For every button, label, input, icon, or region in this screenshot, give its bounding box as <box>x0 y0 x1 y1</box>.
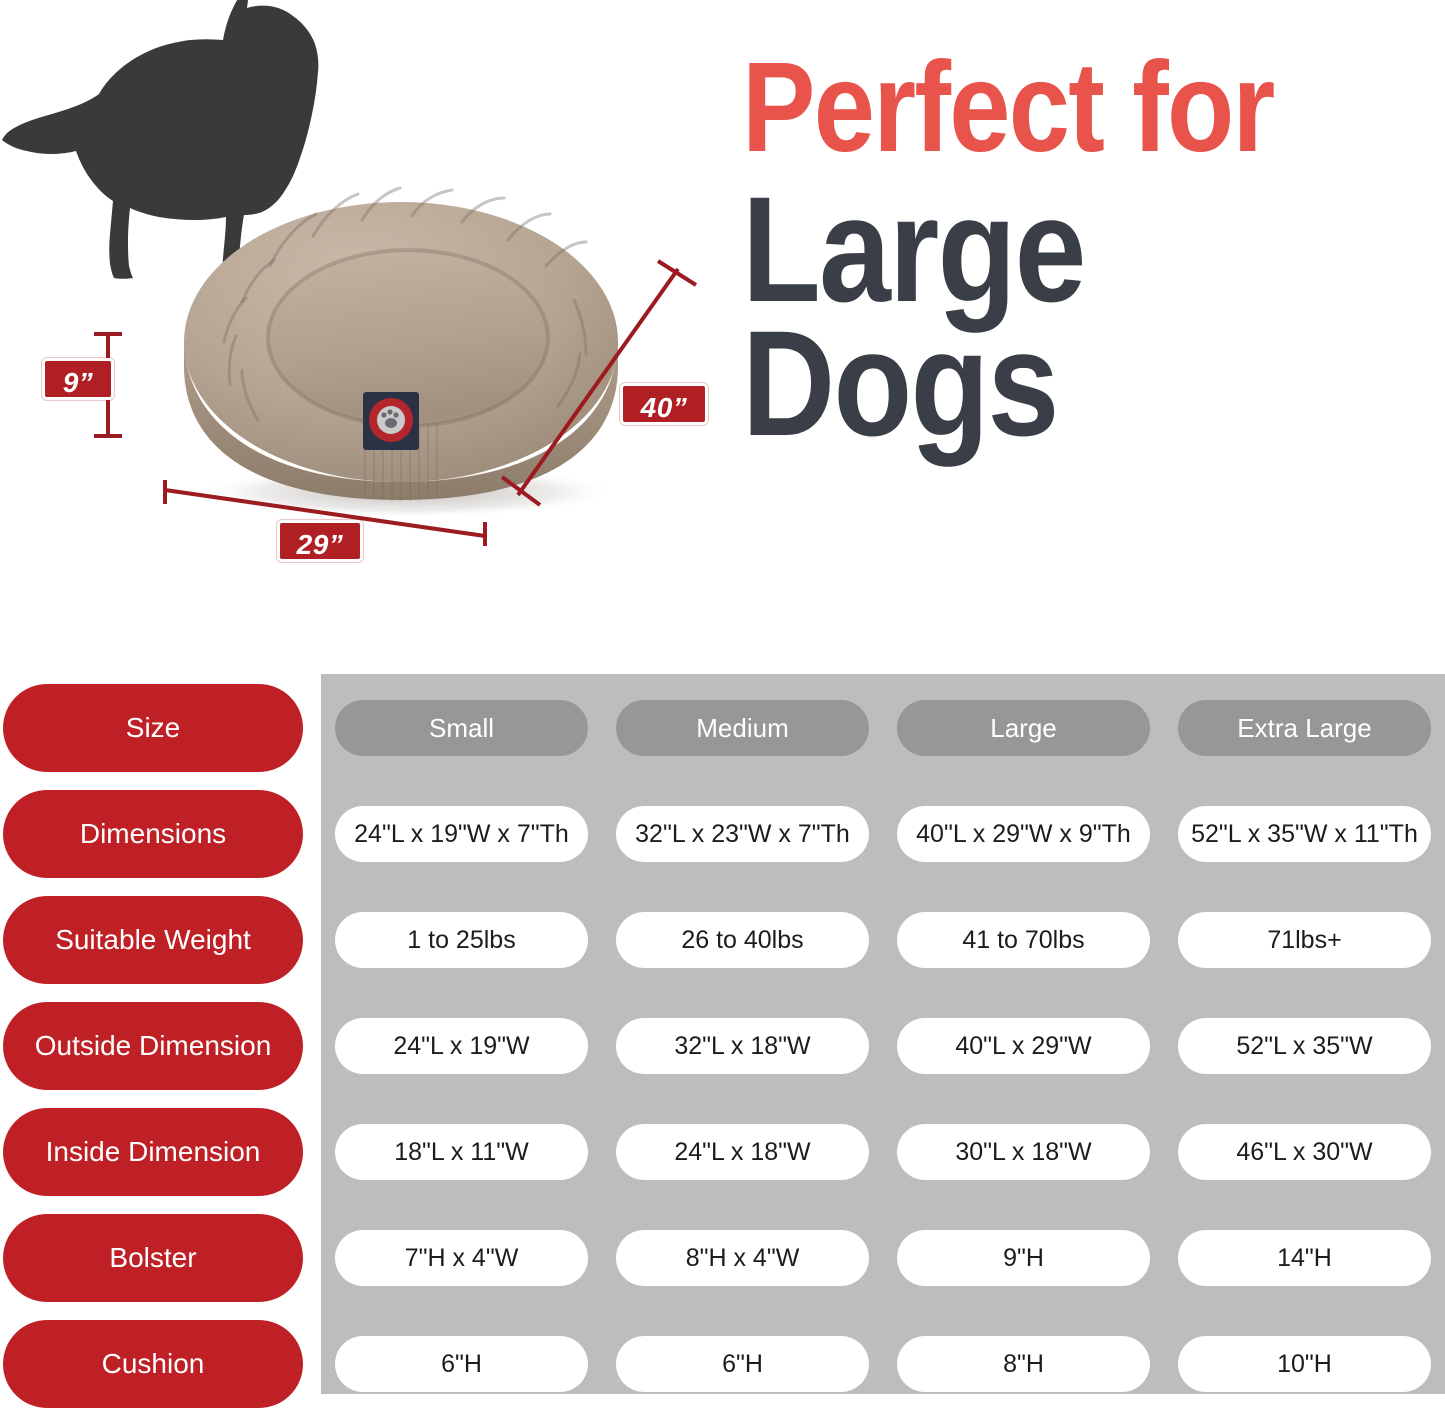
cell-value: 6"H <box>616 1336 869 1392</box>
table-cell: 1 to 25lbs <box>321 912 602 968</box>
row-cells-0: SmallMediumLargeExtra Large <box>321 700 1445 756</box>
row-label-outside-dimension: Outside Dimension <box>3 1002 303 1090</box>
column-header-large: Large <box>897 700 1150 756</box>
table-cell: Small <box>321 700 602 756</box>
headline-block: Perfect for Large Dogs <box>742 52 1442 449</box>
cell-value: 46"L x 30"W <box>1178 1124 1431 1180</box>
row-cells-5: 7"H x 4"W8"H x 4"W9"H14"H <box>321 1230 1445 1286</box>
callout-width-badge: 29” <box>277 520 363 562</box>
cell-value: 26 to 40lbs <box>616 912 869 968</box>
table-cell: 8"H <box>883 1336 1164 1392</box>
row-label-dimensions: Dimensions <box>3 790 303 878</box>
cell-value: 7"H x 4"W <box>335 1230 588 1286</box>
cell-value: 10"H <box>1178 1336 1431 1392</box>
cell-value: 18"L x 11"W <box>335 1124 588 1180</box>
table-cell: Large <box>883 700 1164 756</box>
table-cell: 32"L x 18"W <box>602 1018 883 1074</box>
brand-label-tag <box>363 392 419 450</box>
row-cells-2: 1 to 25lbs26 to 40lbs41 to 70lbs71lbs+ <box>321 912 1445 968</box>
row-label-cushion: Cushion <box>3 1320 303 1408</box>
table-cell: 24"L x 19"W x 7"Th <box>321 806 602 862</box>
cell-value: 71lbs+ <box>1178 912 1431 968</box>
table-cell: 8"H x 4"W <box>602 1230 883 1286</box>
row-cells-6: 6"H6"H8"H10"H <box>321 1336 1445 1392</box>
table-cell: 24"L x 18"W <box>602 1124 883 1180</box>
cell-value: 30"L x 18"W <box>897 1124 1150 1180</box>
table-cell: 26 to 40lbs <box>602 912 883 968</box>
table-cell: 30"L x 18"W <box>883 1124 1164 1180</box>
table-cell: 7"H x 4"W <box>321 1230 602 1286</box>
column-header-extra-large: Extra Large <box>1178 700 1431 756</box>
table-cell: 71lbs+ <box>1164 912 1445 968</box>
table-cell: 40"L x 29"W <box>883 1018 1164 1074</box>
cell-value: 41 to 70lbs <box>897 912 1150 968</box>
table-cell: 46"L x 30"W <box>1164 1124 1445 1180</box>
cell-value: 1 to 25lbs <box>335 912 588 968</box>
cell-value: 6"H <box>335 1336 588 1392</box>
table-cell: Extra Large <box>1164 700 1445 756</box>
table-cell: 52"L x 35"W x 11"Th <box>1164 806 1445 862</box>
row-cells-3: 24"L x 19"W32"L x 18"W40"L x 29"W52"L x … <box>321 1018 1445 1074</box>
cell-value: 32"L x 18"W <box>616 1018 869 1074</box>
cell-value: 32"L x 23"W x 7"Th <box>616 806 869 862</box>
cell-value: 9"H <box>897 1230 1150 1286</box>
cell-value: 24"L x 19"W <box>335 1018 588 1074</box>
cell-value: 24"L x 18"W <box>616 1124 869 1180</box>
cell-value: 52"L x 35"W x 11"Th <box>1178 806 1431 862</box>
table-cell: 32"L x 23"W x 7"Th <box>602 806 883 862</box>
table-cell: 41 to 70lbs <box>883 912 1164 968</box>
row-label-suitable-weight: Suitable Weight <box>3 896 303 984</box>
table-cell: 9"H <box>883 1230 1164 1286</box>
cell-value: 52"L x 35"W <box>1178 1018 1431 1074</box>
callout-length-badge: 40” <box>620 383 708 425</box>
cell-value: 24"L x 19"W x 7"Th <box>335 806 588 862</box>
row-label-bolster: Bolster <box>3 1214 303 1302</box>
cell-value: 40"L x 29"W x 9"Th <box>897 806 1150 862</box>
table-cell: 6"H <box>321 1336 602 1392</box>
cell-value: 8"H <box>897 1336 1150 1392</box>
hero-section: 9” 29” 40” Perfect for Large Dogs <box>0 0 1445 660</box>
row-cells-4: 18"L x 11"W24"L x 18"W30"L x 18"W46"L x … <box>321 1124 1445 1180</box>
row-label-inside-dimension: Inside Dimension <box>3 1108 303 1196</box>
specification-table: SizeSmallMediumLargeExtra LargeDimension… <box>0 660 1445 1408</box>
table-cell: 10"H <box>1164 1336 1445 1392</box>
callout-height-badge: 9” <box>42 358 114 400</box>
column-header-medium: Medium <box>616 700 869 756</box>
cell-value: 14"H <box>1178 1230 1431 1286</box>
table-cell: 24"L x 19"W <box>321 1018 602 1074</box>
infographic-root: 9” 29” 40” Perfect for Large Dogs SizeSm… <box>0 0 1445 1408</box>
column-header-small: Small <box>335 700 588 756</box>
table-cell: 6"H <box>602 1336 883 1392</box>
table-grid: SizeSmallMediumLargeExtra LargeDimension… <box>0 660 1445 1408</box>
headline-line-dogs: Dogs <box>742 317 1344 449</box>
table-cell: 52"L x 35"W <box>1164 1018 1445 1074</box>
cell-value: 40"L x 29"W <box>897 1018 1150 1074</box>
row-label-size: Size <box>3 684 303 772</box>
table-cell: 40"L x 29"W x 9"Th <box>883 806 1164 862</box>
table-cell: 14"H <box>1164 1230 1445 1286</box>
headline-line-perfect-for: Perfect for <box>742 52 1344 165</box>
row-cells-1: 24"L x 19"W x 7"Th32"L x 23"W x 7"Th40"L… <box>321 806 1445 862</box>
table-cell: Medium <box>602 700 883 756</box>
cell-value: 8"H x 4"W <box>616 1230 869 1286</box>
table-cell: 18"L x 11"W <box>321 1124 602 1180</box>
headline-line-large: Large <box>742 183 1344 315</box>
